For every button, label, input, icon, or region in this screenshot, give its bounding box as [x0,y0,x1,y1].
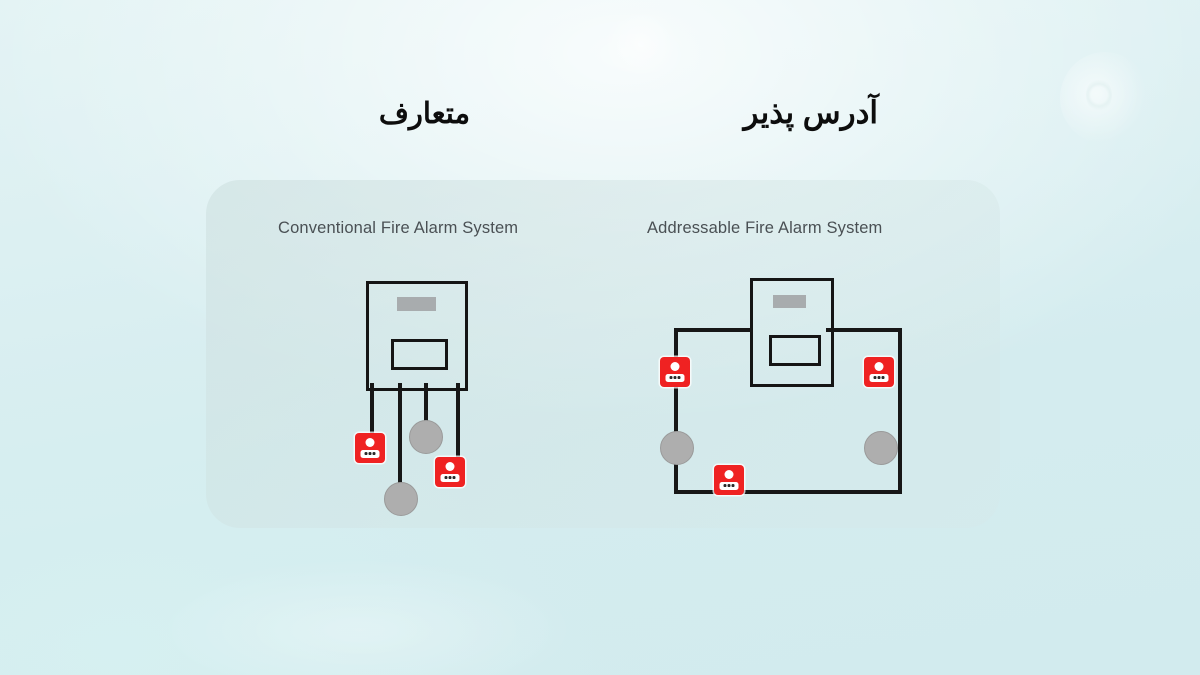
detector-addressable-2 [864,431,898,465]
wire-loop-right-riser [898,328,902,494]
light-smudge-top-center [596,14,686,74]
call-point-addressable-3 [714,465,744,495]
diagram-addressable [606,180,1000,528]
call-point-conventional-1 [355,433,385,463]
light-smudge-bottom-left [150,560,570,675]
call-point-lamp-icon [671,362,680,371]
detector-addressable-1 [660,431,694,465]
control-panel-display [769,335,821,366]
comparison-card: Conventional Fire Alarm System Addressab… [206,180,1000,528]
call-point-conventional-2 [435,457,465,487]
call-point-vents-icon [441,474,460,482]
detector-conventional-1 [409,420,443,454]
control-panel-indicator-slot [397,297,436,311]
call-point-vents-icon [720,482,739,490]
call-point-lamp-icon [366,438,375,447]
wire-loop-top-right [826,328,902,332]
diagram-canvas: آدرس پذیر متعارف Conventional Fire Alarm… [0,0,1200,675]
call-point-lamp-icon [875,362,884,371]
wire-loop-top-left [674,328,752,332]
control-panel-addressable [750,278,834,387]
wire-branch-right [456,383,460,467]
call-point-addressable-1 [660,357,690,387]
control-panel-conventional [366,281,468,391]
control-panel-display [391,339,448,370]
wire-loop-left-riser [674,328,678,494]
light-smudge-top-right-small [1086,78,1112,112]
heading-conventional-persian: متعارف [379,99,470,131]
call-point-lamp-icon [725,470,734,479]
call-point-addressable-2 [864,357,894,387]
detector-conventional-2 [384,482,418,516]
call-point-vents-icon [361,450,380,458]
heading-addressable-persian: آدرس پذیر [744,96,878,130]
wire-loop-bottom [674,490,902,494]
diagram-conventional [206,180,586,528]
call-point-vents-icon [666,374,685,382]
call-point-lamp-icon [446,462,455,471]
call-point-vents-icon [870,374,889,382]
control-panel-indicator-slot [773,295,806,308]
wire-branch-middle [398,383,402,498]
light-smudge-top-right [1060,52,1150,144]
